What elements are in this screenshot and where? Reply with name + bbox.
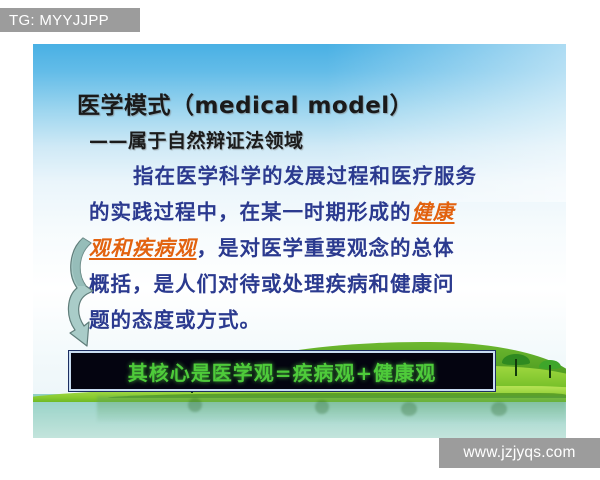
watermark-bottom-right: www.jzjyqs.com (439, 438, 600, 468)
watermark-top-left: TG: MYYJJPP (0, 8, 140, 32)
slide-title: 医学模式（medical model） (77, 86, 413, 120)
body-line-2: 的实践过程中，在某一时期形成的健康 (89, 194, 529, 230)
tree-icon (502, 354, 530, 376)
body-line-3: 观和疾病观，是对医学重要观念的总体 (89, 230, 529, 266)
body-line-5: 题的态度或方式。 (89, 302, 529, 338)
body-line-1: 指在医学科学的发展过程和医疗服务 (89, 158, 529, 194)
body-line-2-text: 的实践过程中，在某一时期形成的 (89, 200, 412, 224)
curved-down-arrow-icon (61, 234, 117, 350)
presentation-slide: 医学模式（medical model） ——属于自然辩证法领域 指在医学科学的发… (33, 44, 566, 438)
body-line-4: 概括，是人们对待或处理疾病和健康问 (89, 266, 529, 302)
tree-icon (539, 360, 561, 378)
tree-reflection (188, 398, 202, 412)
key-point-banner: 其核心是医学观=疾病观+健康观 (69, 351, 495, 391)
key-point-banner-text: 其核心是医学观=疾病观+健康观 (128, 357, 437, 386)
slide-body-text: 指在医学科学的发展过程和医疗服务 的实践过程中，在某一时期形成的健康 观和疾病观… (89, 158, 529, 338)
slide-subtitle: ——属于自然辩证法领域 (89, 126, 304, 153)
screenshot-canvas: 医学模式（medical model） ——属于自然辩证法领域 指在医学科学的发… (0, 0, 600, 480)
body-line-3-text: ，是对医学重要观念的总体 (197, 236, 455, 260)
tree-reflection (401, 402, 417, 416)
body-highlight-health: 健康 (412, 200, 455, 224)
